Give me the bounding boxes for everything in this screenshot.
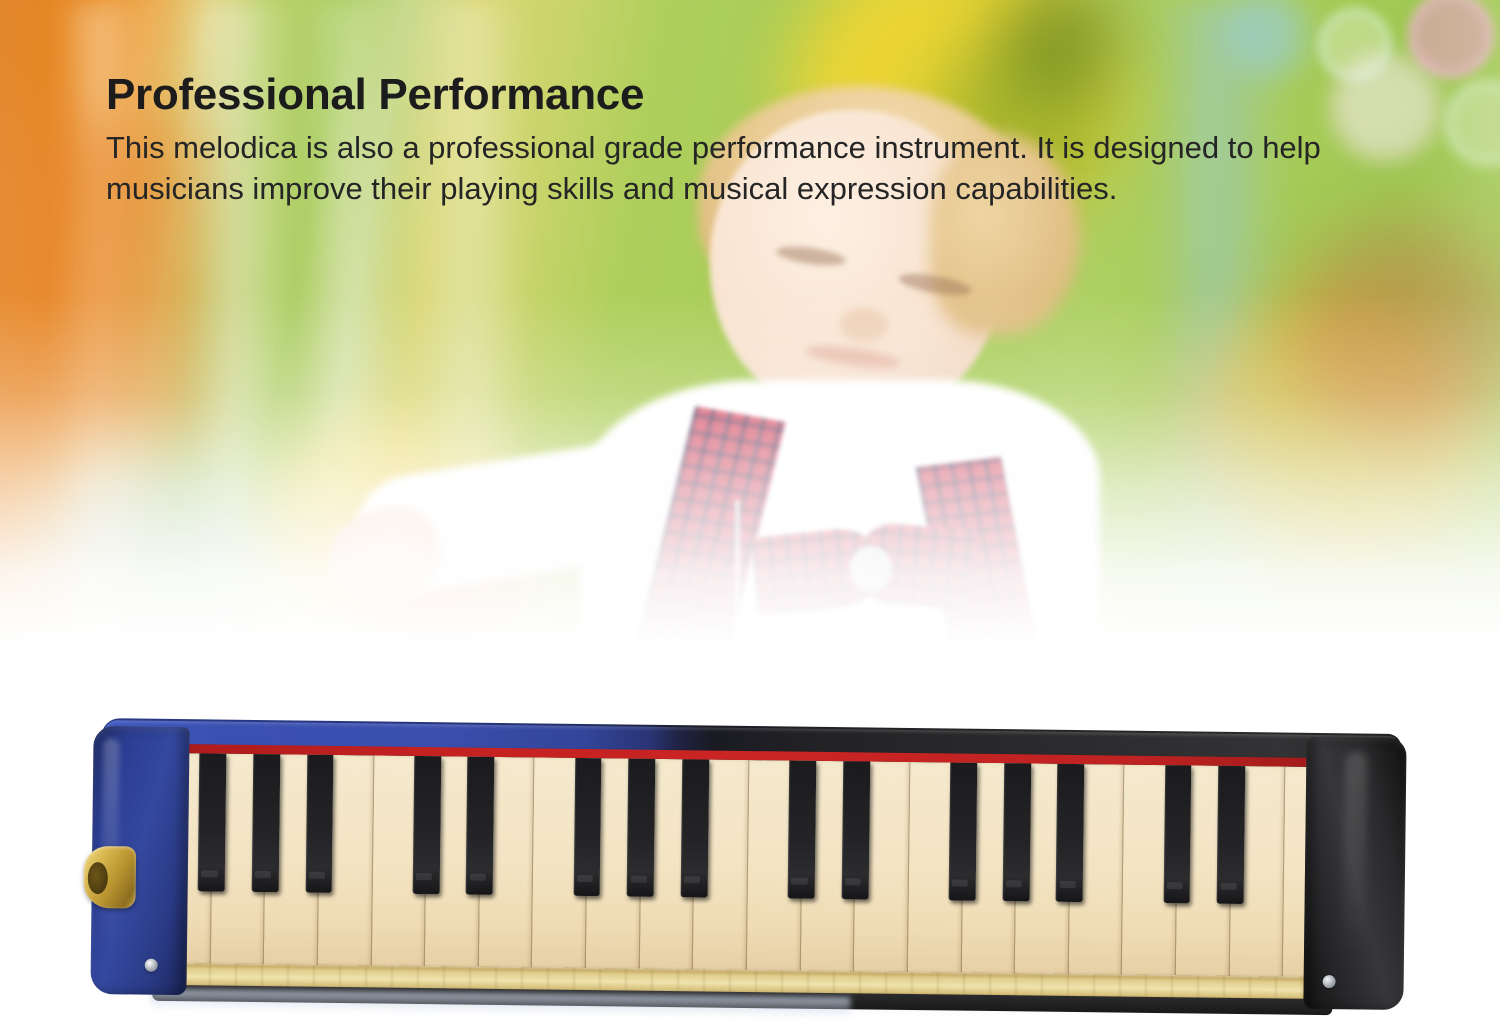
black-key[interactable] <box>1217 766 1245 904</box>
black-key[interactable] <box>788 761 816 899</box>
melodica-right-highlight <box>1343 751 1367 951</box>
melodica-keybed <box>157 753 1340 979</box>
black-key[interactable] <box>466 757 494 895</box>
melodica-screw-left <box>145 959 158 972</box>
black-key[interactable] <box>627 759 655 897</box>
melodica-product-image <box>92 712 1410 1012</box>
headline: Professional Performance <box>106 72 1436 118</box>
black-key[interactable] <box>573 758 601 896</box>
black-key[interactable] <box>1002 763 1030 901</box>
product-feature-banner: Professional Performance This melodica i… <box>0 0 1500 1021</box>
melodica-body-group <box>90 712 1412 1021</box>
melodica-left-highlight <box>101 738 120 948</box>
body-paragraph: This melodica is also a professional gra… <box>106 128 1426 210</box>
black-key[interactable] <box>412 756 440 894</box>
black-key[interactable] <box>949 762 977 900</box>
black-key[interactable] <box>681 759 709 897</box>
copy-block: Professional Performance This melodica i… <box>106 72 1436 210</box>
black-key[interactable] <box>841 761 869 899</box>
black-key[interactable] <box>252 754 280 892</box>
black-key[interactable] <box>1056 764 1084 902</box>
melodica-screw-right <box>1323 975 1336 988</box>
black-key[interactable] <box>1163 765 1191 903</box>
black-key[interactable] <box>198 753 226 891</box>
black-key[interactable] <box>305 755 333 893</box>
